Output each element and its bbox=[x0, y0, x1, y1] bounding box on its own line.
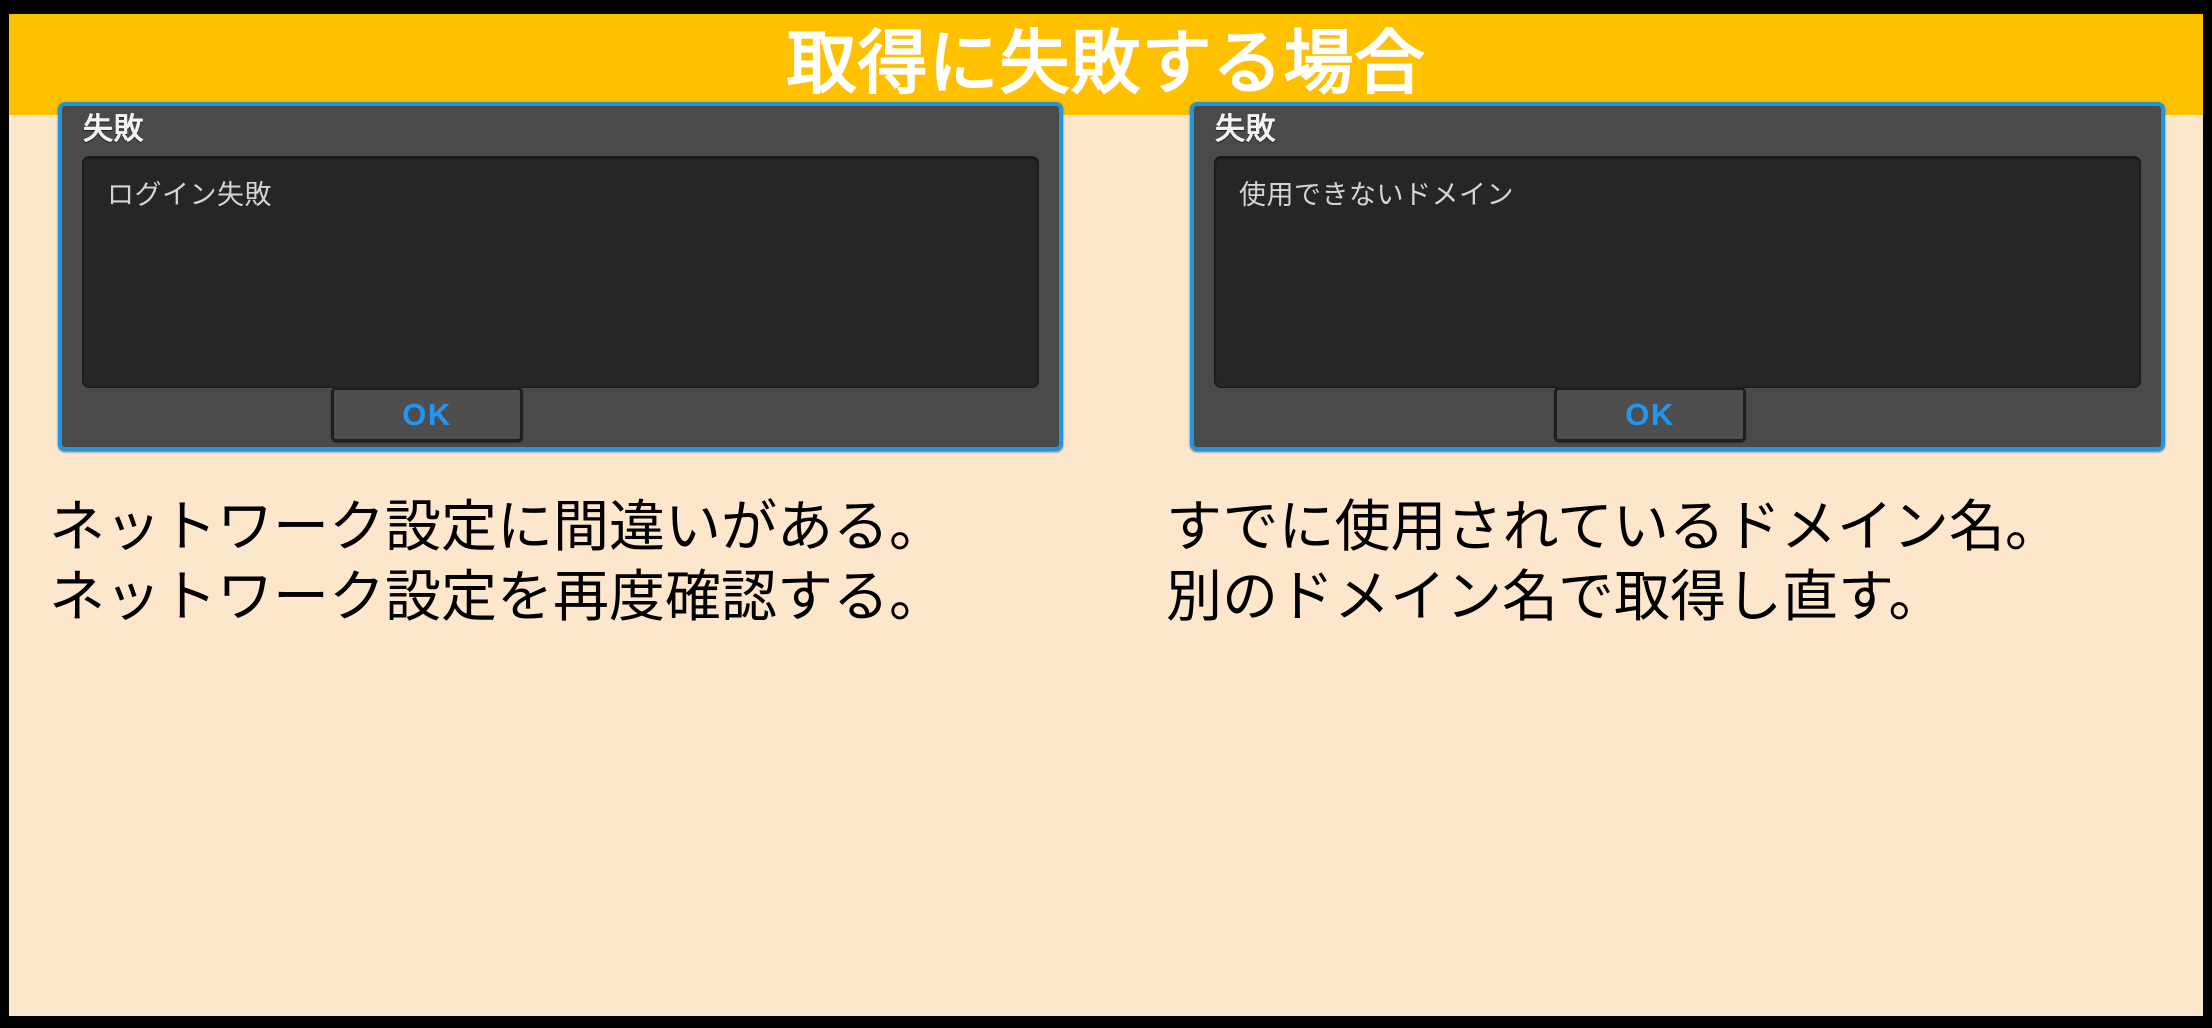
dialog-domain-unavailable: 失敗 使用できないドメイン OK bbox=[1190, 102, 2165, 451]
header-banner: 取得に失敗する場合 bbox=[0, 14, 2212, 115]
dialog-login-failure: 失敗 ログイン失敗 OK bbox=[58, 102, 1063, 451]
ok-button-label: OK bbox=[402, 399, 452, 430]
dialog-message-area: 使用できないドメイン bbox=[1214, 156, 2141, 388]
ok-button[interactable]: OK bbox=[1554, 387, 1746, 442]
dialog-titlebar: 失敗 bbox=[1194, 106, 2161, 153]
ok-button-label: OK bbox=[1625, 399, 1675, 430]
dialog-message: 使用できないドメイン bbox=[1239, 179, 2116, 213]
dialog-title: 失敗 bbox=[1215, 115, 1276, 145]
slide-canvas: 取得に失敗する場合 失敗 ログイン失敗 OK 失敗 使用できないドメイン OK … bbox=[0, 0, 2212, 1028]
ok-button[interactable]: OK bbox=[331, 387, 523, 442]
caption-domain-name: すでに使用されているドメイン名。 別のドメイン名で取得し直す。 bbox=[1166, 492, 2061, 632]
dialog-message: ログイン失敗 bbox=[107, 179, 1014, 213]
dialog-message-area: ログイン失敗 bbox=[82, 156, 1039, 388]
dialog-title: 失敗 bbox=[83, 115, 144, 145]
dialog-footer: OK bbox=[1194, 387, 2161, 447]
dialog-titlebar: 失敗 bbox=[62, 106, 1059, 153]
dialog-footer: OK bbox=[62, 387, 1059, 447]
caption-network-settings: ネットワーク設定に間違いがある。 ネットワーク設定を再度確認する。 bbox=[49, 492, 945, 632]
page-title: 取得に失敗する場合 bbox=[787, 28, 1426, 98]
